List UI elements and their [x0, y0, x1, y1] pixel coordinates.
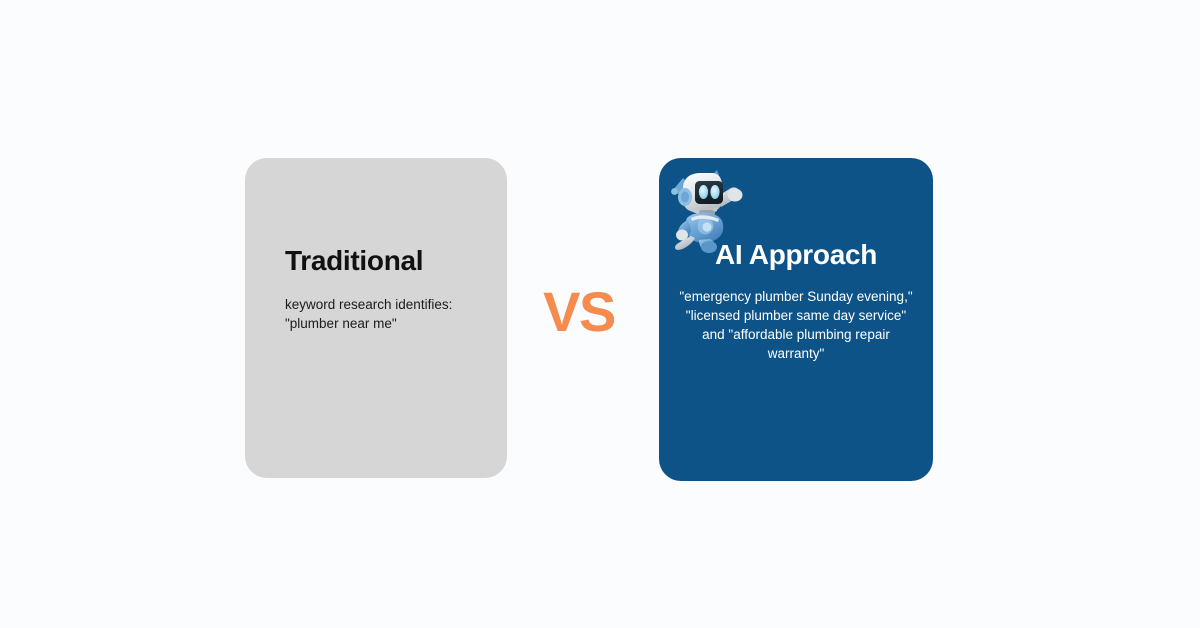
ai-approach-card-title: AI Approach: [677, 240, 915, 271]
vs-separator: VS: [519, 276, 639, 348]
traditional-card-body: keyword research identifies: "plumber ne…: [285, 295, 485, 333]
traditional-card-title: Traditional: [285, 246, 507, 277]
ai-approach-card: AI Approach "emergency plumber Sunday ev…: [659, 158, 933, 481]
comparison-stage: Traditional keyword research identifies:…: [0, 0, 1200, 628]
traditional-card: Traditional keyword research identifies:…: [245, 158, 507, 478]
ai-approach-card-body: "emergency plumber Sunday evening," "lic…: [677, 287, 915, 364]
